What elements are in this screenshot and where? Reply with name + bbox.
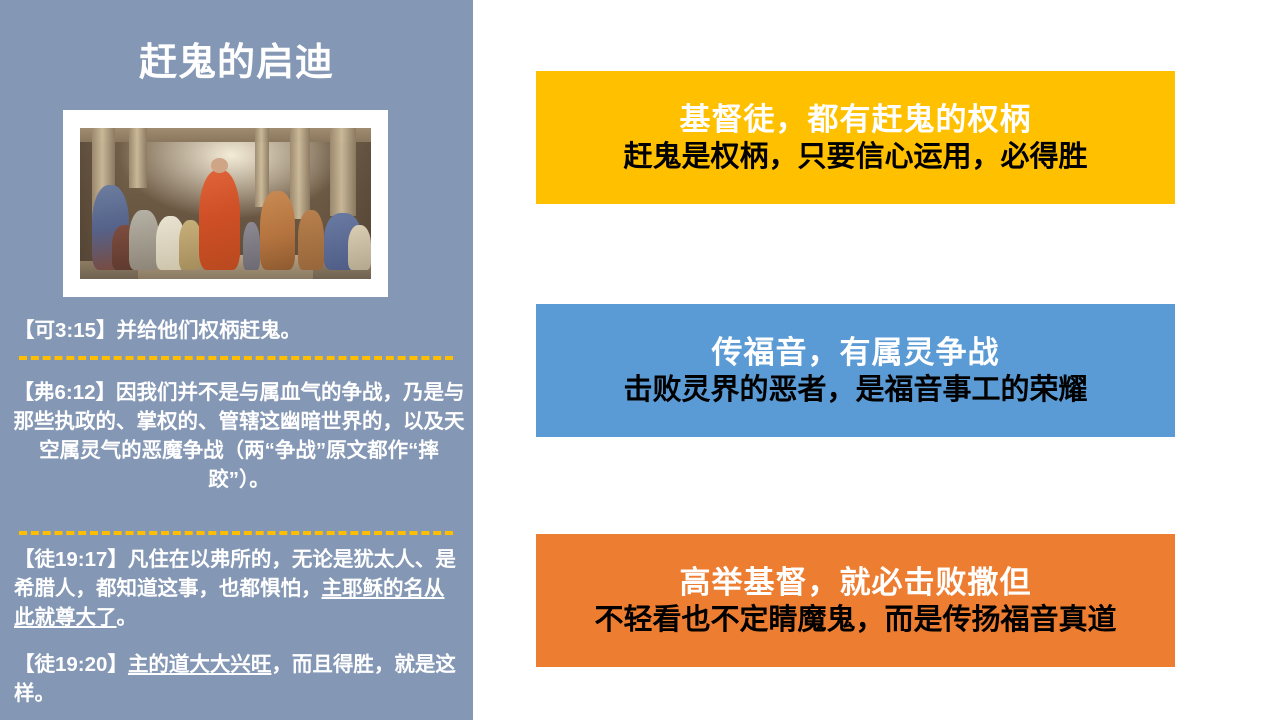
point-panel-2-subtext: 击败灵界的恶者，是福音事工的荣耀: [623, 373, 1087, 408]
verse-acts-19-17: 【徒19:17】凡住在以弗所的，无论是犹太人、是希腊人，都知道这事，也都惧怕，主…: [14, 545, 464, 632]
point-panel-3-heading: 高举基督，就必击败撒但: [680, 564, 1032, 601]
point-panel-1-subtext: 赶鬼是权柄，只要信心运用，必得胜: [623, 140, 1087, 175]
verse-acts-19-20: 【徒19:20】主的道大大兴旺，而且得胜，就是这样。: [14, 650, 464, 708]
verse-acts-19-20-underlined: 主的道大大兴旺: [128, 653, 272, 676]
slide-title: 赶鬼的启迪: [0, 43, 473, 85]
verse-ephesians-6-12: 【弗6:12】因我们并不是与属血气的争战，乃是与那些执政的、掌权的、管辖这幽暗世…: [10, 378, 468, 494]
point-panel-2: 传福音，有属灵争战 击败灵界的恶者，是福音事工的荣耀: [536, 304, 1175, 437]
point-panel-2-heading: 传福音，有属灵争战: [712, 334, 1000, 371]
paul-preaching-at-ephesus-painting: [80, 128, 371, 279]
verse-acts-19-20-lead: 【徒19:20】: [14, 653, 128, 676]
verse-acts-19-17-tail: 。: [117, 606, 138, 629]
divider-dashed-bottom: [19, 531, 453, 535]
divider-dashed-top: [19, 356, 453, 360]
point-panel-1: 基督徒，都有赶鬼的权柄 赶鬼是权柄，只要信心运用，必得胜: [536, 71, 1175, 204]
presentation-slide: 赶鬼的启迪: [0, 0, 1280, 720]
point-panel-3: 高举基督，就必击败撒但 不轻看也不定睛魔鬼，而是传扬福音真道: [536, 534, 1175, 667]
point-panel-3-subtext: 不轻看也不定睛魔鬼，而是传扬福音真道: [594, 603, 1116, 638]
sidebar-panel: 赶鬼的启迪: [0, 0, 473, 720]
picture-frame: [63, 110, 388, 297]
point-panel-1-heading: 基督徒，都有赶鬼的权柄: [680, 101, 1032, 138]
verse-mark-3-15: 【可3:15】并给他们权柄赶鬼。: [14, 316, 464, 345]
